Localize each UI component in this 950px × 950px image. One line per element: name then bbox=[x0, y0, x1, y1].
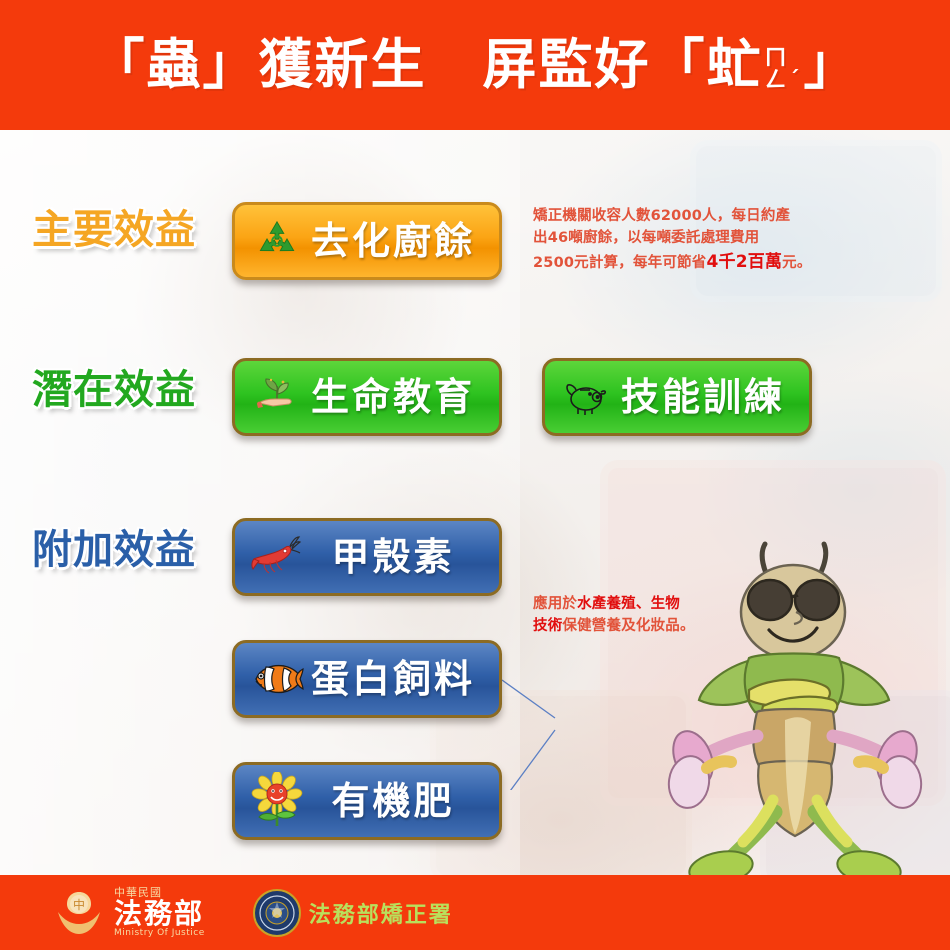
page-title-part1: 「蟲」獲新生 屏監好「虻 bbox=[90, 33, 762, 96]
pill-label-protein-feed: 蛋白飼料 bbox=[307, 660, 485, 698]
moj-logo-block: 中 中華民國 法務部 Ministry Of Justice bbox=[52, 886, 205, 940]
poster-root: 「蟲」獲新生 屏監好「虻ㄇㄥˊ」 主要效益 潛在效益 附加效益 bbox=[0, 0, 950, 950]
section-label-extra-benefit: 附加效益 bbox=[32, 530, 196, 570]
recycle-icon bbox=[247, 211, 307, 271]
moj-emblem-icon: 中 bbox=[52, 886, 106, 940]
page-title-part2: 」 bbox=[804, 33, 860, 96]
annotation-main-line3-pre: 2500元計算，每年可節省 bbox=[533, 255, 706, 271]
pill-protein-feed[interactable]: 蛋白飼料 bbox=[232, 640, 502, 718]
annotation-main-highlight: 4千2百萬 bbox=[706, 252, 782, 272]
annotation-main-benefit: 矯正機關收容人數62000人，每日約產 出46噸廚餘，以每噸委託處理費用 250… bbox=[533, 206, 833, 275]
moj-english-label: Ministry Of Justice bbox=[114, 929, 205, 938]
sunflower-icon bbox=[247, 771, 307, 831]
pill-label-life-education: 生命教育 bbox=[307, 378, 485, 416]
shrimp-icon bbox=[247, 527, 307, 587]
poster-header: 「蟲」獲新生 屏監好「虻ㄇㄥˊ」 bbox=[0, 0, 950, 130]
pill-label-food-waste: 去化廚餘 bbox=[307, 222, 485, 260]
pill-label-skill-training: 技能訓練 bbox=[617, 378, 795, 416]
sprout-hand-icon bbox=[247, 367, 307, 427]
pill-skill-training[interactable]: 技能訓練 bbox=[542, 358, 812, 436]
section-label-main-benefit: 主要效益 bbox=[32, 210, 196, 250]
moj-text-block: 中華民國 法務部 Ministry Of Justice bbox=[114, 887, 205, 938]
black-soldier-fly-mascot bbox=[645, 500, 945, 875]
aoc-logo-block: 法務部矯正署 bbox=[253, 889, 453, 937]
pill-label-organic-fertilizer: 有機肥 bbox=[307, 782, 485, 820]
pill-organic-fertilizer[interactable]: 有機肥 bbox=[232, 762, 502, 840]
pill-chitin[interactable]: 甲殼素 bbox=[232, 518, 502, 596]
annotation-extra-highlight-2: 技術 bbox=[533, 618, 562, 634]
annotation-main-line3: 2500元計算，每年可節省4千2百萬元。 bbox=[533, 250, 833, 276]
poster-footer: 中 中華民國 法務部 Ministry Of Justice 法務部矯正署 bbox=[0, 875, 950, 950]
section-label-potential-benefit: 潛在效益 bbox=[32, 370, 196, 410]
content-stage: 主要效益 潛在效益 附加效益 去化廚餘 bbox=[0, 130, 950, 875]
aoc-name-label: 法務部矯正署 bbox=[309, 897, 453, 929]
zhuyin-annotation: ㄇㄥˊ bbox=[764, 48, 801, 92]
piggy-bank-icon bbox=[557, 367, 617, 427]
annotation-extra-line1-pre: 應用於 bbox=[533, 596, 577, 612]
annotation-main-line3-post: 元。 bbox=[782, 255, 811, 271]
pill-food-waste[interactable]: 去化廚餘 bbox=[232, 202, 502, 280]
zhuyin-final: ㄥˊ bbox=[764, 70, 801, 92]
svg-text:中: 中 bbox=[73, 897, 85, 912]
page-title: 「蟲」獲新生 屏監好「虻ㄇㄥˊ」 bbox=[90, 38, 859, 92]
pill-life-education[interactable]: 生命教育 bbox=[232, 358, 502, 436]
annotation-main-line1: 矯正機關收容人數62000人，每日約產 bbox=[533, 206, 833, 228]
pill-label-chitin: 甲殼素 bbox=[307, 538, 485, 576]
moj-name-label: 法務部 bbox=[114, 900, 205, 928]
zhuyin-initial: ㄇ bbox=[764, 48, 788, 70]
annotation-main-line2: 出46噸廚餘，以每噸委託處理費用 bbox=[533, 228, 833, 250]
aoc-emblem-icon bbox=[253, 889, 301, 937]
clownfish-icon bbox=[247, 649, 307, 709]
